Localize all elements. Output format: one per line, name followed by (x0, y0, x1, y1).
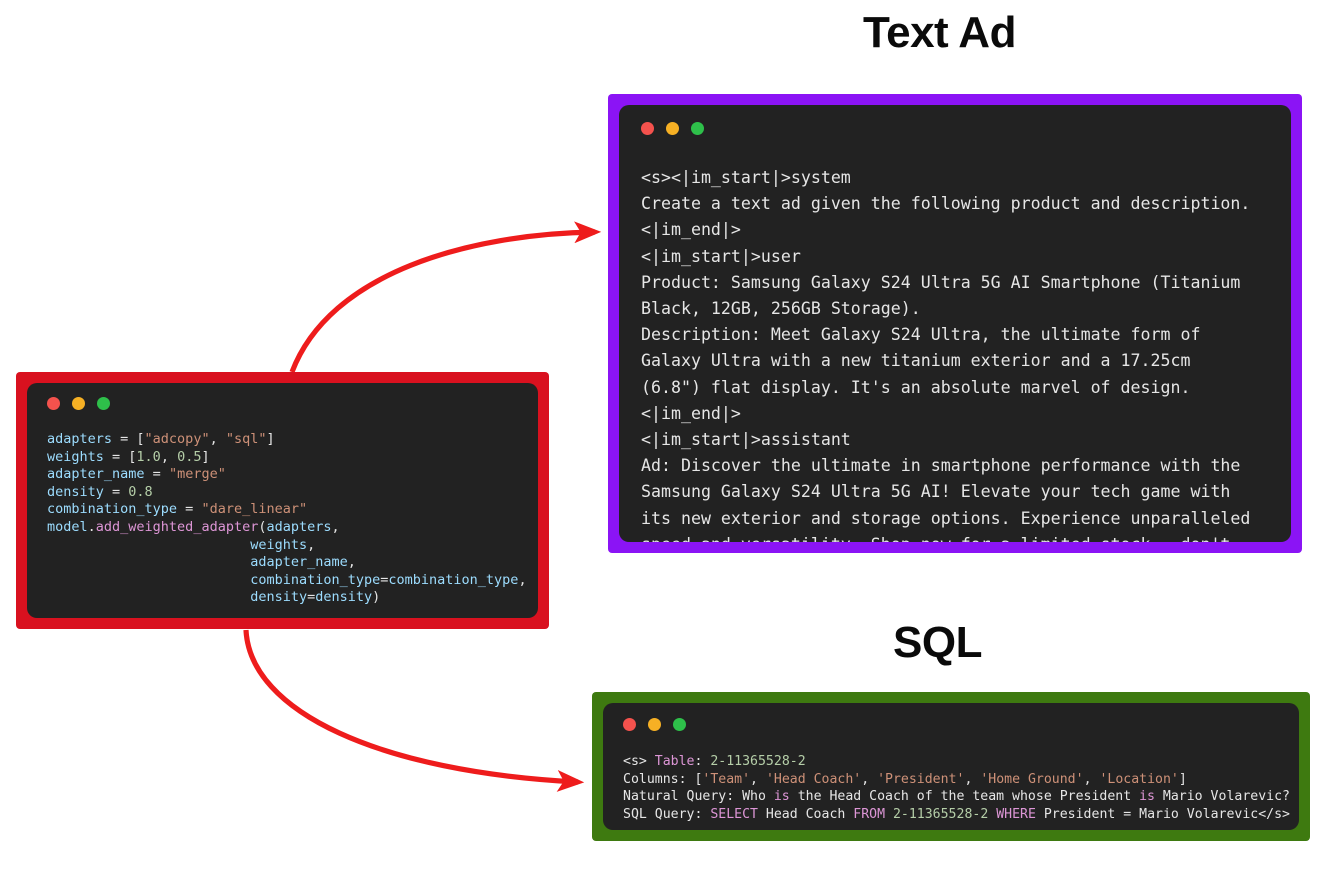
code-line: Samsung Galaxy S24 Ultra 5G AI! Elevate … (641, 479, 1250, 505)
code-token: , (1084, 772, 1100, 787)
code-line: <s><|im_start|>system (641, 165, 1250, 191)
code-token: density (250, 589, 307, 605)
code-line: Galaxy Ultra with a new titanium exterio… (641, 348, 1250, 374)
code-line: <|im_end|> (641, 217, 1250, 243)
code-line: Black, 12GB, 256GB Storage). (641, 296, 1250, 322)
code-token: is (774, 789, 790, 804)
close-dot-icon[interactable] (47, 397, 60, 410)
close-dot-icon[interactable] (623, 718, 636, 731)
code-line: weights, (47, 537, 527, 555)
window-controls-textad (641, 122, 704, 135)
close-dot-icon[interactable] (641, 122, 654, 135)
code-token: , (964, 772, 980, 787)
code-line: weights = [1.0, 0.5] (47, 449, 527, 467)
sql-heading: SQL (893, 618, 982, 668)
code-token: 'Team' (702, 772, 750, 787)
code-line: Natural Query: Who is the Head Coach of … (623, 788, 1290, 806)
code-token: "dare_linear" (201, 501, 307, 517)
text-ad-terminal-body: <s><|im_start|>systemCreate a text ad gi… (619, 105, 1291, 542)
code-token: <|im_start|>user (641, 247, 801, 266)
code-token: Black, 12GB, 256GB Storage). (641, 299, 921, 318)
window-controls-sql (623, 718, 686, 731)
code-token: adapters (266, 519, 331, 535)
code-line: adapter_name, (47, 554, 527, 572)
code-token: SQL Query: (623, 807, 710, 822)
code-token (885, 807, 893, 822)
code-token: combination_type (388, 572, 518, 588)
code-token: Natural Query: Who (623, 789, 774, 804)
code-token (47, 572, 250, 588)
code-line: combination_type = "dare_linear" (47, 501, 527, 519)
code-token: "merge" (169, 466, 226, 482)
code-token: , (861, 772, 877, 787)
maximize-dot-icon[interactable] (97, 397, 110, 410)
code-token: <s> (623, 754, 655, 769)
code-token: <s><|im_start|>system (641, 168, 851, 187)
code-token: density (315, 589, 372, 605)
code-token: Create a text ad given the following pro… (641, 194, 1250, 213)
code-token: adapter_name (47, 466, 145, 482)
code-token: , (210, 431, 226, 447)
minimize-dot-icon[interactable] (648, 718, 661, 731)
code-token: density (47, 484, 104, 500)
code-line: Ad: Discover the ultimate in smartphone … (641, 453, 1250, 479)
code-token: = (145, 466, 169, 482)
code-line: <|im_start|>user (641, 244, 1250, 270)
code-token: , (161, 449, 177, 465)
code-line: Product: Samsung Galaxy S24 Ultra 5G AI … (641, 270, 1250, 296)
code-token: FROM (853, 807, 885, 822)
code-line: combination_type=combination_type, (47, 572, 527, 590)
code-line: Create a text ad given the following pro… (641, 191, 1250, 217)
code-token: add_weighted_adapter (96, 519, 259, 535)
code-token: (6.8") flat display. It's an absolute ma… (641, 378, 1190, 397)
maximize-dot-icon[interactable] (691, 122, 704, 135)
code-line: (6.8") flat display. It's an absolute ma… (641, 375, 1250, 401)
code-token: Product: Samsung Galaxy S24 Ultra 5G AI … (641, 273, 1240, 292)
code-token: combination_type (47, 501, 177, 517)
code-token: Mario Volarevic? (1155, 789, 1290, 804)
code-token: WHERE (996, 807, 1036, 822)
code-line: its new exterior and storage options. Ex… (641, 506, 1250, 532)
code-line: density = 0.8 (47, 484, 527, 502)
code-token: weights (250, 537, 307, 553)
adapters-code-block: adapters = ["adcopy", "sql"]weights = [1… (47, 431, 527, 607)
code-line: speed and versatility. Shop now for a li… (641, 532, 1250, 542)
code-token: <|im_start|>assistant (641, 430, 851, 449)
code-token: its new exterior and storage options. Ex… (641, 509, 1250, 528)
code-token: ] (1179, 772, 1187, 787)
code-token: , (348, 554, 356, 570)
code-token: ) (372, 589, 380, 605)
code-token: Columns: [ (623, 772, 702, 787)
code-line: density=density) (47, 589, 527, 607)
adapters-code-window: adapters = ["adcopy", "sql"]weights = [1… (16, 372, 549, 629)
code-token: "sql" (226, 431, 267, 447)
code-token: the Head Coach of the team whose Preside… (790, 789, 1139, 804)
code-token: adapter_name (250, 554, 348, 570)
code-token: 2-11365528-2 (710, 754, 805, 769)
code-token (47, 537, 250, 553)
code-token: = [ (104, 449, 137, 465)
minimize-dot-icon[interactable] (72, 397, 85, 410)
adapters-terminal-body: adapters = ["adcopy", "sql"]weights = [1… (27, 383, 538, 618)
code-token: weights (47, 449, 104, 465)
code-token: <|im_end|> (641, 220, 741, 239)
code-token: , (750, 772, 766, 787)
arrow-adapters-to-sql (246, 630, 578, 782)
text-ad-code-window: <s><|im_start|>systemCreate a text ad gi… (608, 94, 1302, 553)
code-token: , (518, 572, 526, 588)
code-token: Galaxy Ultra with a new titanium exterio… (641, 351, 1190, 370)
code-line: Description: Meet Galaxy S24 Ultra, the … (641, 322, 1250, 348)
code-token: 'Location' (1099, 772, 1178, 787)
code-token: . (88, 519, 96, 535)
code-token: Table (655, 754, 695, 769)
code-token: : (694, 754, 710, 769)
code-token: Head Coach (758, 807, 853, 822)
code-token: is (1139, 789, 1155, 804)
arrow-adapters-to-textad (292, 232, 595, 372)
code-token: "adcopy" (145, 431, 210, 447)
code-token: 'Home Ground' (980, 772, 1083, 787)
sql-terminal-body: <s> Table: 2-11365528-2Columns: ['Team',… (603, 703, 1299, 830)
code-token: model (47, 519, 88, 535)
code-line: SQL Query: SELECT Head Coach FROM 2-1136… (623, 806, 1290, 824)
code-token: Ad: Discover the ultimate in smartphone … (641, 456, 1240, 475)
code-token: SELECT (710, 807, 758, 822)
code-token (47, 554, 250, 570)
text-ad-code-block: <s><|im_start|>systemCreate a text ad gi… (641, 165, 1250, 542)
code-token: = (177, 501, 201, 517)
code-token: , (332, 519, 340, 535)
code-token: <|im_end|> (641, 404, 741, 423)
maximize-dot-icon[interactable] (673, 718, 686, 731)
minimize-dot-icon[interactable] (666, 122, 679, 135)
code-token: Samsung Galaxy S24 Ultra 5G AI! Elevate … (641, 482, 1230, 501)
code-line: adapter_name = "merge" (47, 466, 527, 484)
code-token: 'President' (877, 772, 964, 787)
code-token: ] (201, 449, 209, 465)
sql-code-block: <s> Table: 2-11365528-2Columns: ['Team',… (623, 753, 1290, 823)
code-token: 0.5 (177, 449, 201, 465)
code-token: 2-11365528-2 (893, 807, 988, 822)
code-token: Description: Meet Galaxy S24 Ultra, the … (641, 325, 1200, 344)
code-token: = (104, 484, 128, 500)
code-token: 0.8 (128, 484, 152, 500)
diagram-canvas: Text Ad SQL adapters = ["adcopy", "sql"]… (0, 0, 1327, 869)
code-token: = [ (112, 431, 145, 447)
code-line: Columns: ['Team', 'Head Coach', 'Preside… (623, 771, 1290, 789)
code-token: , (307, 537, 315, 553)
code-line: <s> Table: 2-11365528-2 (623, 753, 1290, 771)
text-ad-heading: Text Ad (863, 8, 1016, 58)
code-line: model.add_weighted_adapter(adapters, (47, 519, 527, 537)
code-token: adapters (47, 431, 112, 447)
code-token: 1.0 (136, 449, 160, 465)
window-controls-adapters (47, 397, 110, 410)
code-line: <|im_start|>assistant (641, 427, 1250, 453)
code-token (47, 589, 250, 605)
code-token: combination_type (250, 572, 380, 588)
code-line: adapters = ["adcopy", "sql"] (47, 431, 527, 449)
code-line: <|im_end|> (641, 401, 1250, 427)
sql-code-window: <s> Table: 2-11365528-2Columns: ['Team',… (592, 692, 1310, 841)
code-token: ] (266, 431, 274, 447)
code-token: 'Head Coach' (766, 772, 861, 787)
code-token: President = Mario Volarevic</s> (1036, 807, 1290, 822)
code-token: speed and versatility. Shop now for a li… (641, 535, 1230, 542)
